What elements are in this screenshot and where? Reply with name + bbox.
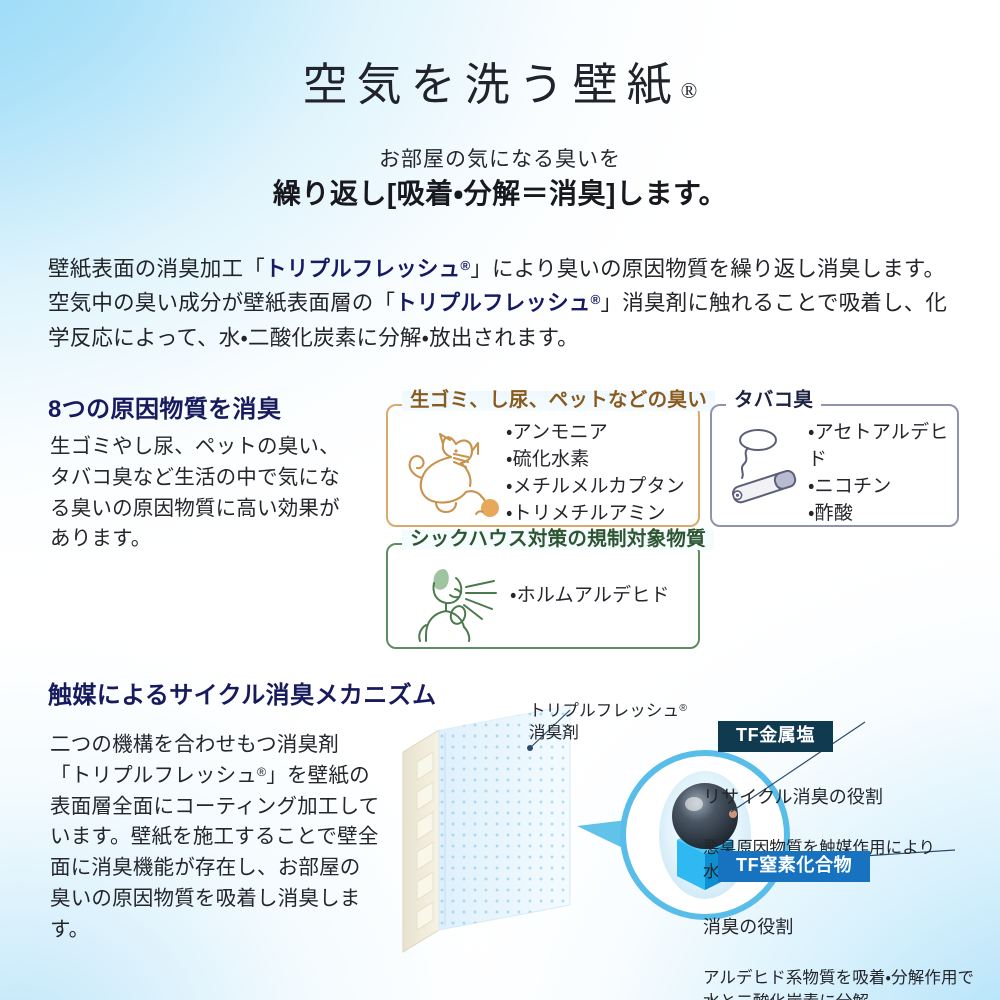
brand-label-2: トリプルフレッシュ xyxy=(395,291,590,315)
mechanism-desc-2: 」を壁紙の表面層全面にコーティング加工しています。壁紙を施工することで壁全面に消… xyxy=(50,764,379,941)
registered-mark-icon: ® xyxy=(679,703,687,714)
odor-section-description: 生ゴミやし尿、ペットの臭い、タバコ臭など生活の中で気になる臭いの原因物質に高い効… xyxy=(50,432,350,555)
odor-section-heading: 8つの原因物質を消臭 xyxy=(48,389,281,424)
list-item: ・メチルメルカプタン xyxy=(506,474,685,501)
subtitle-line-1: お部屋の気になる臭いを xyxy=(0,143,1000,173)
diagram-label-line-2: 消臭剤 xyxy=(529,724,579,742)
odor-box-pet-items: ・アンモニア ・硫化水素 ・メチルメルカプタン ・トリメチルアミン xyxy=(506,420,685,528)
cat-icon xyxy=(394,424,512,520)
list-item: ・アセトアルデヒド xyxy=(808,420,957,474)
odor-box-sickhouse: シックハウス対策の規制対象物質 ・ホルムアルデヒド xyxy=(386,543,700,649)
infographic-page: 空気を洗う壁紙® お部屋の気になる臭いを 繰り返し[吸着・分解＝消臭]します。 … xyxy=(0,0,1000,1000)
odor-box-sickhouse-items: ・ホルムアルデヒド xyxy=(510,583,670,610)
mechanism-section-description: 二つの機構を合わせもつ消臭剤「トリプルフレッシュ®」を壁紙の表面層全面にコーティ… xyxy=(50,730,380,945)
lead-paragraph: 壁紙表面の消臭加工「トリプルフレッシュ®」により臭いの原因物質を繰り返し消臭しま… xyxy=(48,252,956,356)
callout-role: 消臭の役割 xyxy=(703,914,974,940)
page-title: 空気を洗う壁紙® xyxy=(0,48,1000,113)
diagram-label-triplefresh: トリプルフレッシュ® 消臭剤 xyxy=(529,700,687,745)
callout-detail: アルデヒド系物質を吸着・分解作用で 水と二酸化炭素に分解 xyxy=(703,969,974,1000)
list-item: ・酢酸 xyxy=(808,501,957,528)
brand-name-1: トリプルフレッシュ® xyxy=(265,257,470,281)
page-title-text: 空気を洗う壁紙 xyxy=(303,60,681,110)
badge-tf-metal-salt: TF金属塩 xyxy=(718,721,833,752)
odor-box-tobacco-legend: タバコ臭 xyxy=(726,391,821,411)
zoom-arrow-icon xyxy=(577,820,627,850)
lead-text-1: 壁紙表面の消臭加工「 xyxy=(48,257,265,281)
list-item: ・アンモニア xyxy=(506,420,685,447)
registered-mark-icon: ® xyxy=(591,292,601,307)
diagram-label-line-1: トリプルフレッシュ xyxy=(529,702,679,720)
coughing-person-icon xyxy=(414,559,510,643)
registered-mark-icon: ® xyxy=(460,258,470,273)
callout-tf-nitrogen-note: 消臭の役割 アルデヒド系物質を吸着・分解作用で 水と二酸化炭素に分解 xyxy=(703,890,974,1000)
list-item: ・ニコチン xyxy=(808,474,957,501)
odor-box-pet: 生ゴミ、し尿、ペットなどの臭い xyxy=(386,404,700,527)
odor-box-pet-legend: 生ゴミ、し尿、ペットなどの臭い xyxy=(402,391,715,411)
cigarette-icon xyxy=(720,426,812,506)
badge-tf-nitrogen-compound: TF窒素化合物 xyxy=(718,851,870,882)
brand-name-2: トリプルフレッシュ® xyxy=(395,291,600,315)
odor-box-tobacco-items: ・アセトアルデヒド ・ニコチン ・酢酸 xyxy=(808,420,957,528)
callout-role: リサイクル消臭の役割 xyxy=(703,784,935,810)
brand-label-1: トリプルフレッシュ xyxy=(265,257,460,281)
mechanism-section-heading: 触媒によるサイクル消臭メカニズム xyxy=(48,675,436,710)
odor-box-tobacco: タバコ臭 ・アセトアルデヒド ・ニコチン ・酢酸 xyxy=(710,404,959,527)
list-item: ・ホルムアルデヒド xyxy=(510,583,670,610)
registered-mark-icon: ® xyxy=(257,765,266,779)
registered-mark-icon: ® xyxy=(681,78,698,103)
odor-box-sickhouse-legend: シックハウス対策の規制対象物質 xyxy=(402,530,714,550)
subtitle-line-2: 繰り返し[吸着・分解＝消臭]します。 xyxy=(0,172,1000,212)
list-item: ・トリメチルアミン xyxy=(506,501,685,528)
list-item: ・硫化水素 xyxy=(506,447,685,474)
